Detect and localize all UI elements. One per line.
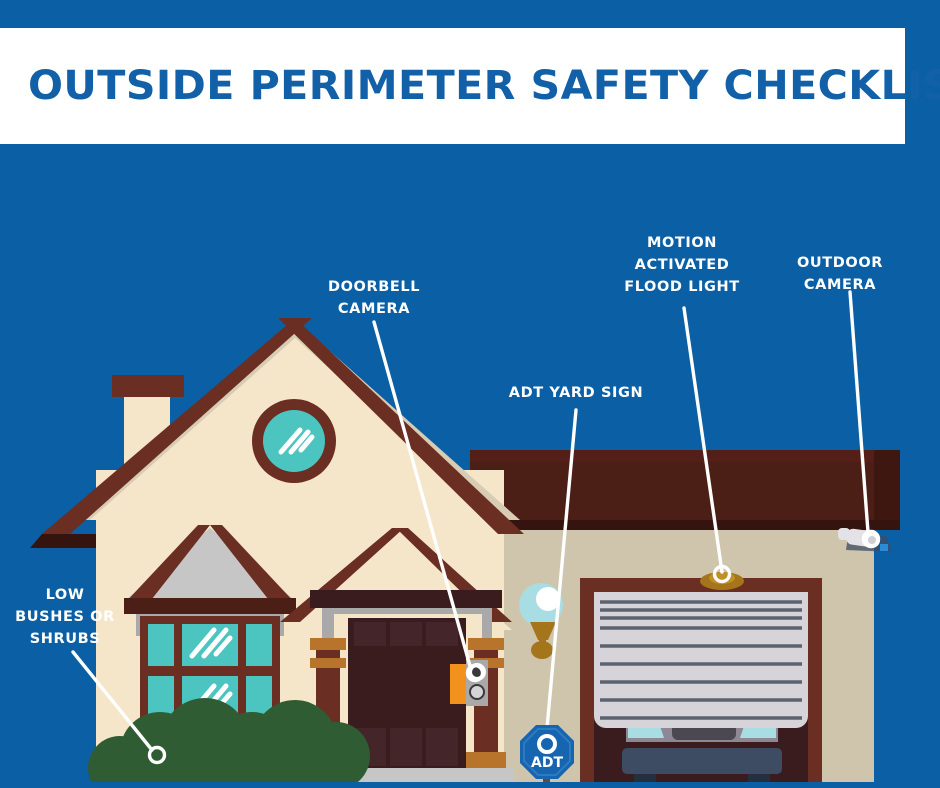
bay-pane-tc: [182, 624, 238, 666]
callout-label-doorbell-camera: DOORBELL CAMERA: [296, 276, 452, 320]
outdoor-camera-mount: [838, 528, 850, 540]
yard-sign-text: ADT: [531, 755, 563, 771]
garage-roof-edge: [470, 450, 900, 462]
callout-label-outdoor-camera: OUTDOOR CAMERA: [772, 252, 908, 296]
bay-window-header: [124, 598, 296, 614]
lamp-base: [531, 641, 553, 659]
door-panel-bc: [390, 728, 422, 766]
callout-label-flood-light: MOTION ACTIVATED FLOOD LIGHT: [602, 232, 762, 298]
chimney-cap: [112, 375, 184, 397]
ground-strip: [0, 782, 940, 788]
infographic-canvas: ADT OUTSIDE PERIMETER SAFETY CHECKLIST D…: [0, 0, 940, 788]
outdoor-camera-lens-inner: [868, 536, 876, 544]
attic-window-glass: [263, 410, 325, 472]
bay-pane-tl: [148, 624, 174, 666]
outdoor-camera-indicator: [880, 544, 888, 551]
column-left-band: [310, 658, 346, 668]
door-panel-tc: [390, 622, 422, 646]
garage-door: [594, 592, 808, 728]
attic-round-window: [252, 399, 336, 483]
car-bumper: [622, 748, 782, 774]
portico-header: [310, 590, 502, 608]
door-panel-tr: [426, 622, 458, 646]
title-banner: OUTSIDE PERIMETER SAFETY CHECKLIST: [0, 28, 905, 144]
callout-label-adt-yard-sign: ADT YARD SIGN: [496, 382, 656, 404]
column-left-capital: [310, 638, 346, 650]
bay-pane-tr: [246, 624, 272, 666]
page-title: OUTSIDE PERIMETER SAFETY CHECKLIST: [28, 63, 940, 109]
door-panel-tl: [354, 622, 386, 646]
garage-roof-soffit: [484, 520, 900, 530]
column-right-capital: [468, 638, 504, 650]
doorbell-accent-strip: [450, 664, 466, 704]
doorbell-button: [470, 685, 484, 699]
garage-roof-right-end: [874, 450, 900, 520]
column-right-base: [466, 752, 506, 768]
door-panel-br: [426, 728, 458, 766]
callout-label-low-bushes: LOW BUSHES OR SHRUBS: [8, 584, 122, 650]
garage-door-panel: [594, 592, 808, 728]
